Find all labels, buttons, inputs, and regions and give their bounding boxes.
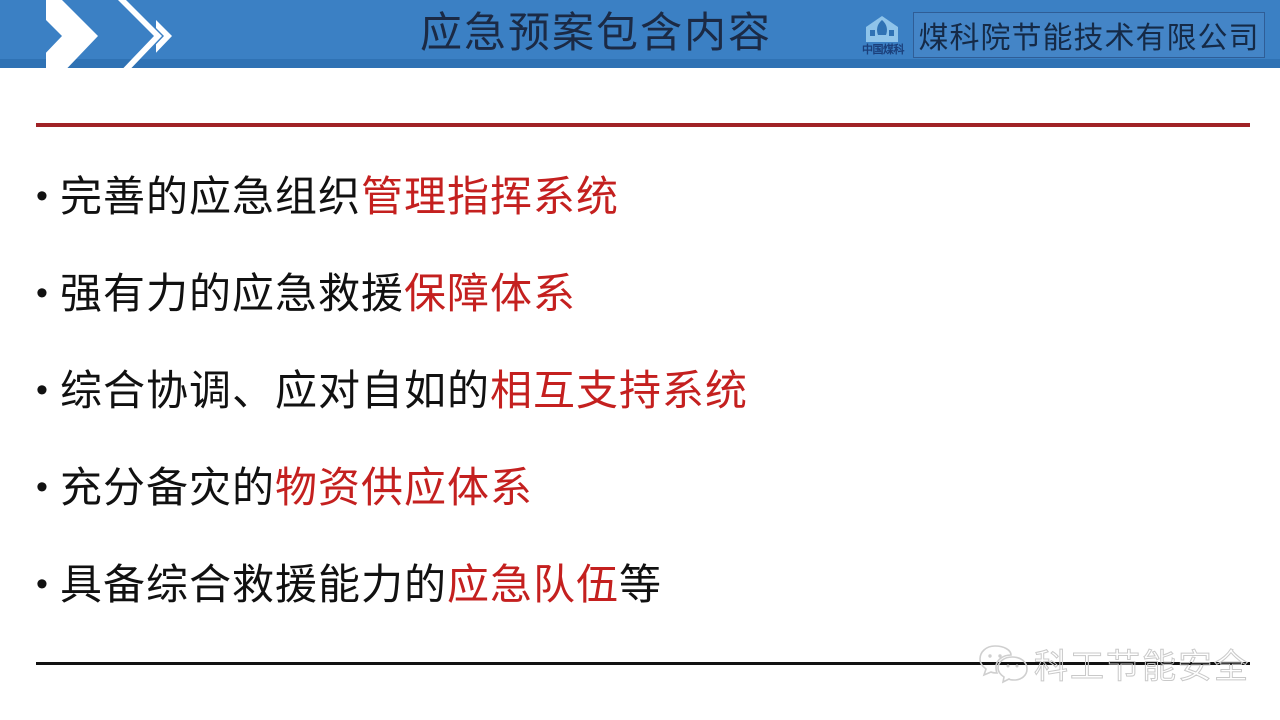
bullet-text: 强有力的应急救援保障体系	[60, 245, 576, 342]
bullet-text: 具备综合救援能力的应急队伍等	[60, 536, 662, 633]
bullet-accent-segment: 管理指挥系统	[361, 173, 619, 220]
bullet-plain-segment: 强有力的应急救援	[60, 270, 404, 317]
bullet-plain-segment: 等	[619, 561, 662, 608]
bullet-dot-icon: •	[36, 148, 60, 245]
company-name-label: 煤科院节能技术有限公司	[919, 13, 1260, 57]
bullet-dot-icon: •	[36, 342, 60, 439]
wechat-icon	[978, 641, 1028, 685]
bullet-item: •强有力的应急救援保障体系	[36, 245, 1246, 342]
bullet-text: 综合协调、应对自如的相互支持系统	[60, 342, 748, 439]
bullet-plain-segment: 完善的应急组织	[60, 173, 361, 220]
company-name-box: 煤科院节能技术有限公司	[913, 12, 1265, 58]
bullet-dot-icon: •	[36, 536, 60, 633]
bullet-text: 完善的应急组织管理指挥系统	[60, 148, 619, 245]
bullet-text: 充分备灾的物资供应体系	[60, 439, 533, 536]
footer-watermark: 科工节能安全	[978, 637, 1268, 689]
bullet-dot-icon: •	[36, 439, 60, 536]
bullet-accent-segment: 相互支持系统	[490, 367, 748, 414]
bullet-item: •完善的应急组织管理指挥系统	[36, 148, 1246, 245]
bullet-accent-segment: 保障体系	[404, 270, 576, 317]
bullet-dot-icon: •	[36, 245, 60, 342]
coal-group-emblem-icon	[860, 14, 904, 44]
bullet-list: •完善的应急组织管理指挥系统•强有力的应急救援保障体系•综合协调、应对自如的相互…	[36, 148, 1246, 633]
bullet-plain-segment: 具备综合救援能力的	[60, 561, 447, 608]
bullet-item: •充分备灾的物资供应体系	[36, 439, 1246, 536]
bullet-plain-segment: 充分备灾的	[60, 464, 275, 511]
company-logo-label: 中国煤科	[852, 44, 914, 57]
slide-canvas: 应急预案包含内容 中国煤科 煤科院节能技术有限公司 •完善的应急组织管理指挥系统…	[0, 0, 1280, 720]
slide-header-band: 应急预案包含内容 中国煤科 煤科院节能技术有限公司	[0, 0, 1280, 68]
title-divider-rule	[36, 123, 1250, 127]
bullet-accent-segment: 应急队伍	[447, 561, 619, 608]
watermark-label: 科工节能安全	[1034, 639, 1250, 688]
page-title: 应急预案包含内容	[420, 2, 870, 66]
bullet-item: •综合协调、应对自如的相互支持系统	[36, 342, 1246, 439]
bullet-plain-segment: 综合协调、应对自如的	[60, 367, 490, 414]
double-chevron-right-icon	[46, 0, 236, 68]
company-logo: 中国煤科	[852, 14, 914, 64]
bullet-accent-segment: 物资供应体系	[275, 464, 533, 511]
bullet-item: •具备综合救援能力的应急队伍等	[36, 536, 1246, 633]
